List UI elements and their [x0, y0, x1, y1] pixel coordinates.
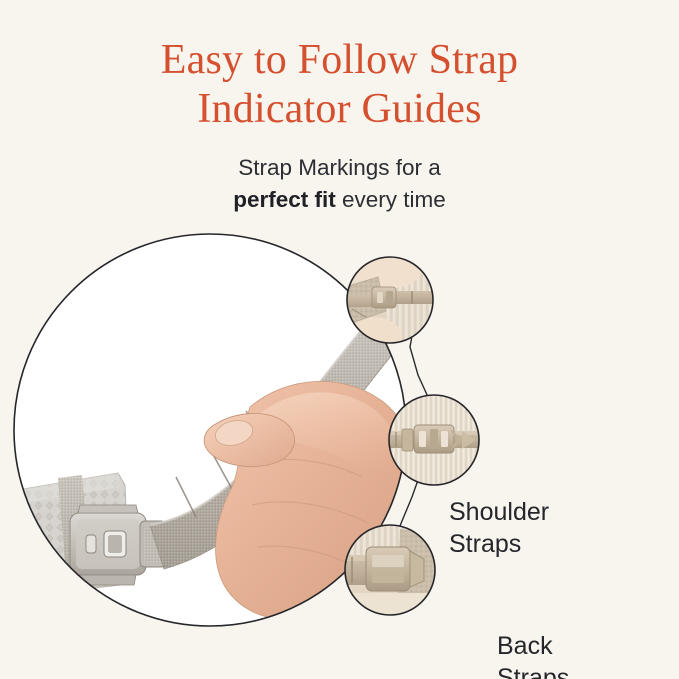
- callout-label-shoulder-line-2: Straps: [449, 529, 549, 561]
- page-subtitle-line-2: perfect fit every time: [0, 184, 679, 216]
- page-title: Easy to Follow Strap Indicator Guides: [0, 36, 679, 133]
- callout-label-back-line-2: Straps: [497, 663, 569, 679]
- diagram-illustration: [0, 225, 679, 679]
- page-subtitle-line-1: Strap Markings for a: [238, 155, 441, 180]
- page-subtitle: Strap Markings for a perfect fit every t…: [0, 152, 679, 216]
- page-subtitle-emphasis: perfect fit: [233, 187, 336, 212]
- page-title-line-2: Indicator Guides: [0, 85, 679, 134]
- strap-diagram: Shoulder Straps Back Straps Waistbelt St…: [0, 225, 679, 679]
- callout-label-shoulder-line-1: Shoulder: [449, 498, 549, 526]
- page-title-line-1: Easy to Follow Strap: [161, 37, 519, 83]
- infographic-page: Easy to Follow Strap Indicator Guides St…: [0, 0, 679, 679]
- callout-circle-waistbelt[interactable]: [343, 525, 436, 617]
- callout-label-back-line-1: Back: [497, 632, 553, 660]
- callout-label-shoulder: Shoulder Straps: [449, 497, 549, 561]
- page-subtitle-line-2-rest: every time: [336, 187, 446, 212]
- callout-label-back: Back Straps: [497, 631, 569, 679]
